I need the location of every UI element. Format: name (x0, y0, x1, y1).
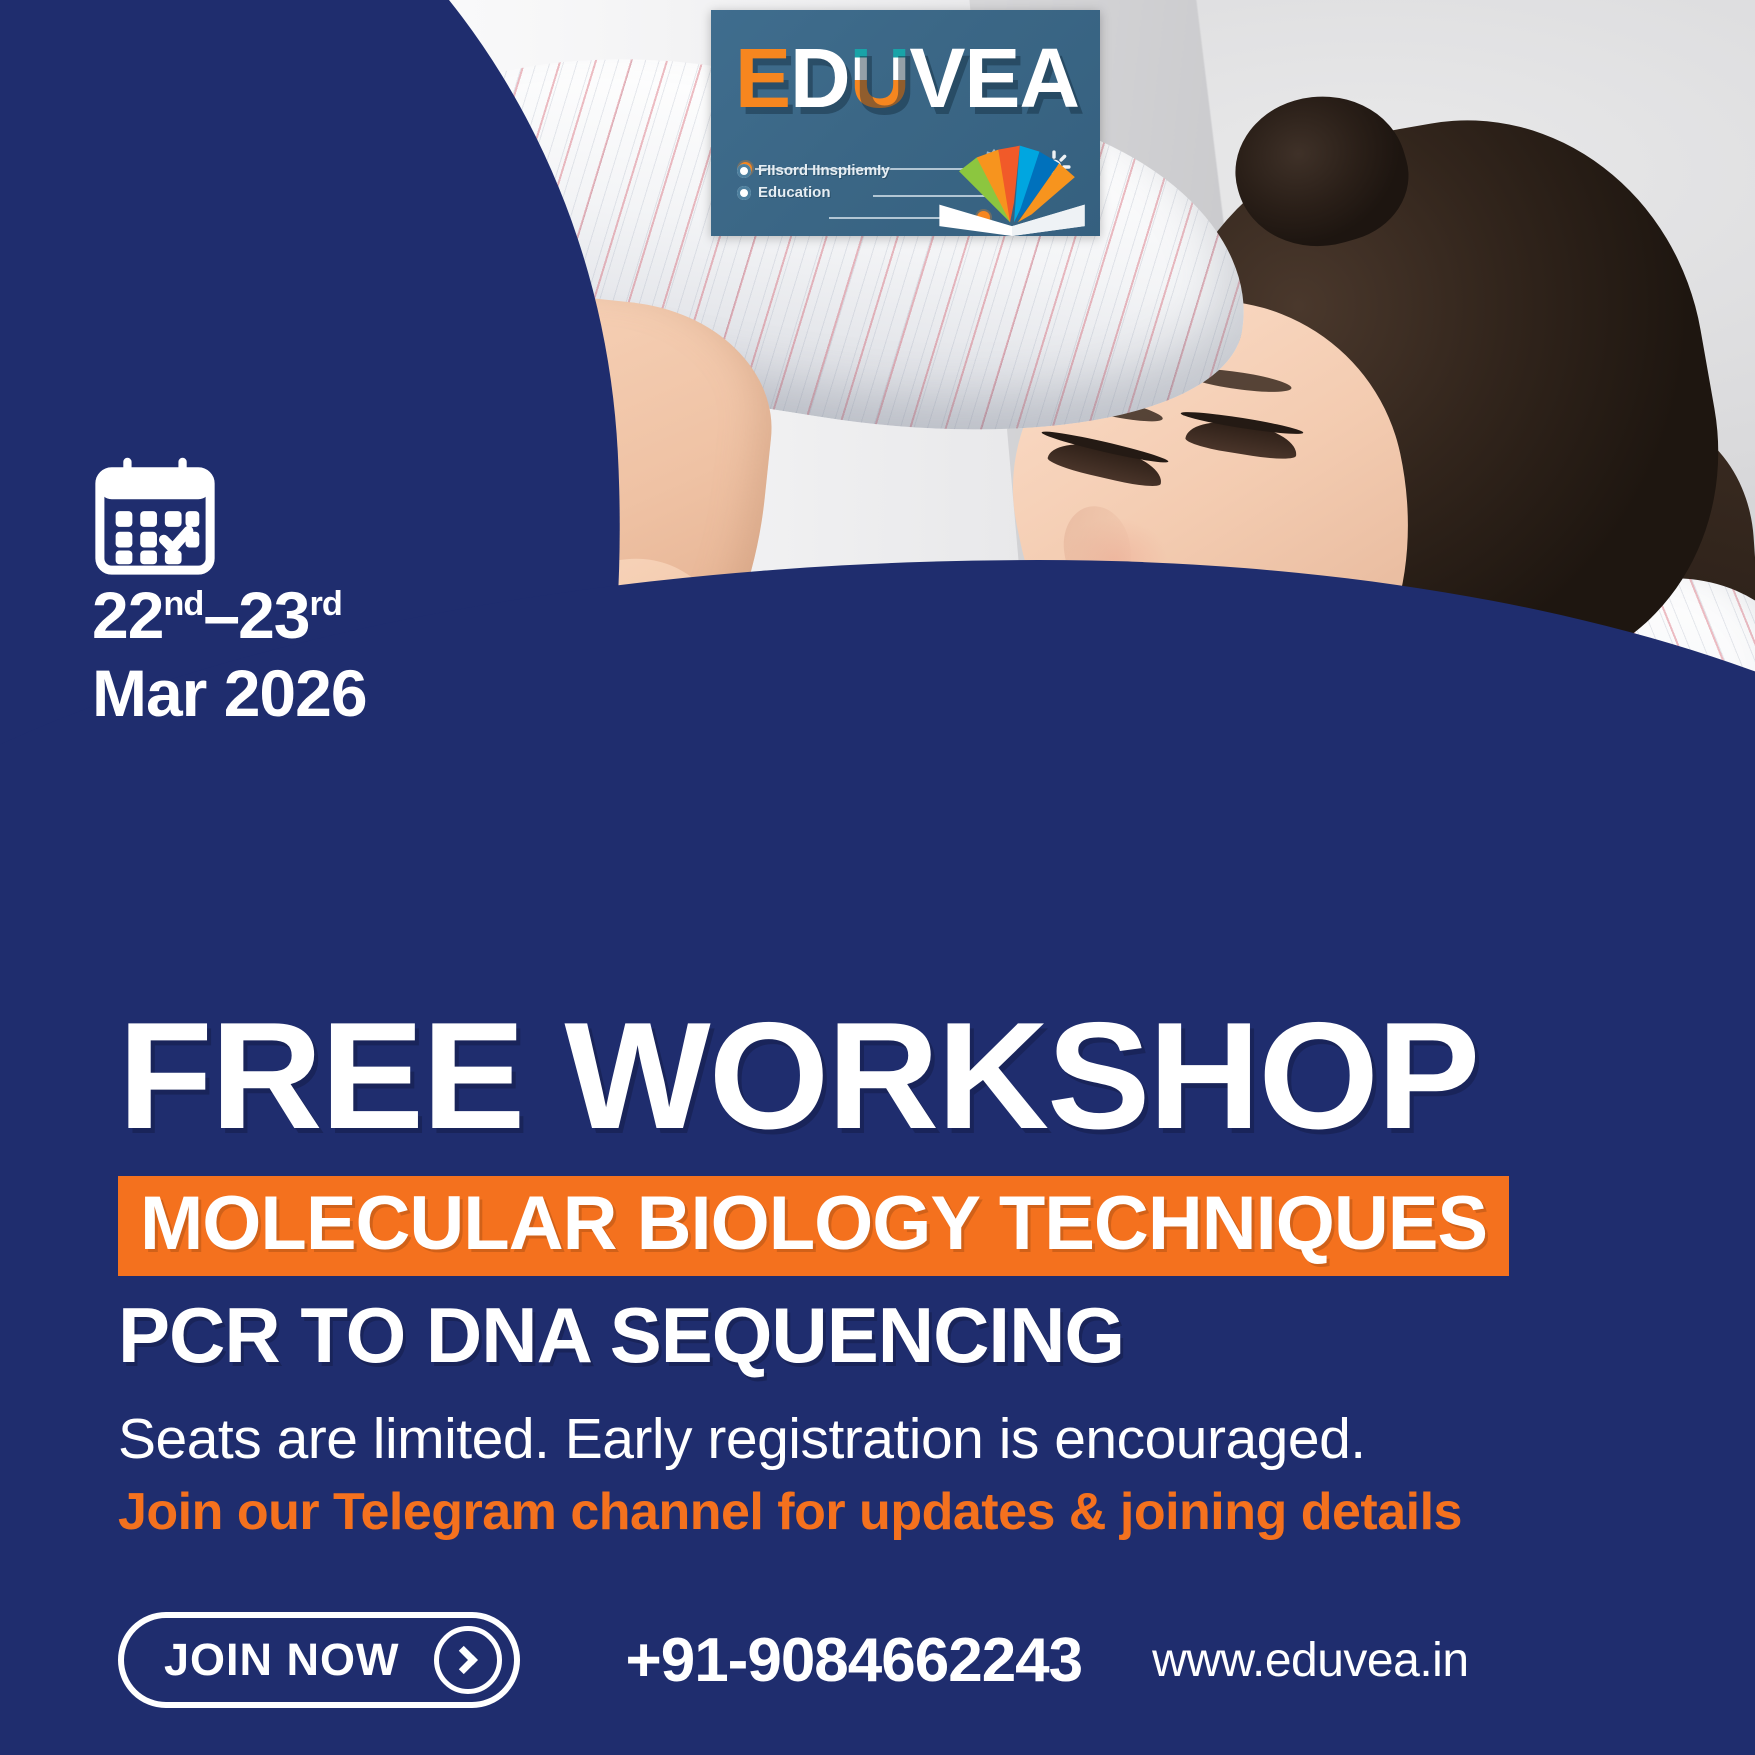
telegram-note: Join our Telegram channel for updates & … (118, 1484, 1648, 1541)
promo-poster: EDUVEA FIIsord IInspIiemIy Education (0, 0, 1755, 1755)
date-day-end: 23 (238, 578, 309, 652)
bullet-circle-icon (737, 164, 751, 178)
date-dash: – (203, 578, 238, 652)
date-day-start-suffix: nd (163, 585, 203, 623)
calendar-check-icon (92, 455, 218, 579)
logo-tagline: FIIsord IInspIiemIy Education (737, 160, 957, 204)
chevron-right-icon[interactable] (434, 1626, 502, 1694)
bullet-circle-icon-2 (737, 186, 751, 200)
join-now-button[interactable]: JOIN NOW (118, 1612, 520, 1708)
open-book-icon (929, 128, 1097, 236)
logo-letters-vea: VEA (909, 31, 1079, 125)
website-url[interactable]: www.eduvea.in (1152, 1633, 1468, 1688)
page-title: FREE WORKSHOP (118, 1000, 1679, 1152)
date-range: 22nd–23rd (92, 579, 452, 653)
logo-tagline-row-2: Education (737, 182, 957, 204)
logo-letter-u: U (850, 31, 910, 125)
eduvea-logo[interactable]: EDUVEA FIIsord IInspIiemIy Education (711, 10, 1100, 236)
date-month-year: Mar 2026 (92, 657, 452, 731)
contact-phone[interactable]: +91-9084662243 (626, 1625, 1083, 1696)
logo-tagline-text-2: Education (758, 182, 831, 204)
date-day-end-suffix: rd (309, 585, 341, 623)
date-block: 22nd–23rd Mar 2026 (92, 455, 452, 731)
logo-tagline-text-1: FIIsord IInspIiemIy (758, 160, 890, 182)
topic-band: MOLECULAR BIOLOGY TECHNIQUES (118, 1176, 1509, 1276)
footer-bar: JOIN NOW +91-9084662243 www.eduvea.in (118, 1612, 1648, 1708)
logo-tagline-row-1: FIIsord IInspIiemIy (737, 160, 957, 182)
chevron-glyph (449, 1646, 477, 1674)
join-now-label: JOIN NOW (164, 1634, 400, 1686)
seats-note: Seats are limited. Early registration is… (118, 1408, 1648, 1472)
topic-subtitle: PCR TO DNA SEQUENCING (118, 1296, 1648, 1374)
topic-band-text: MOLECULAR BIOLOGY TECHNIQUES (140, 1186, 1487, 1262)
logo-letter-d: D (790, 31, 850, 125)
logo-letter-e: E (735, 31, 790, 125)
date-day-start: 22 (92, 578, 163, 652)
headline-block: FREE WORKSHOP MOLECULAR BIOLOGY TECHNIQU… (118, 1000, 1648, 1541)
logo-wordmark: EDUVEA (735, 36, 1079, 120)
